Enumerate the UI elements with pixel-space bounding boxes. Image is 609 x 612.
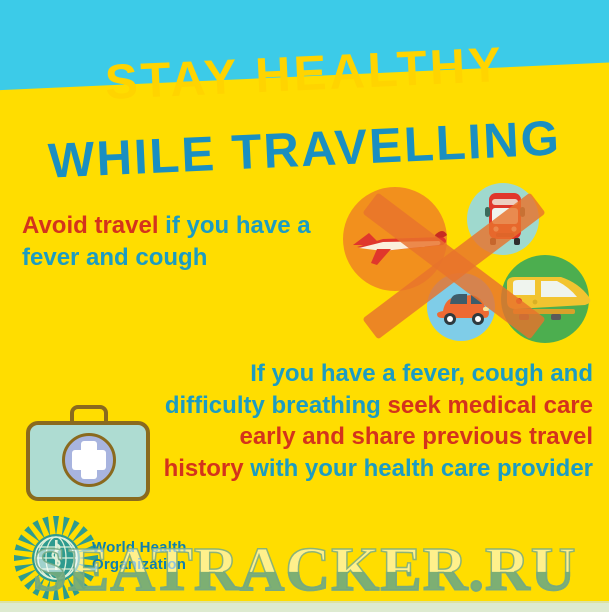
who-logo: [14, 516, 98, 600]
train-icon: [505, 275, 591, 327]
bus-icon: [481, 191, 529, 249]
poster-canvas: STAY HEALTHY WHILE TRAVELLING Avoid trav…: [0, 0, 609, 612]
who-organization-label: World Health Organization: [92, 540, 187, 574]
medical-cross-icon-bar: [72, 450, 106, 470]
airplane-icon: [347, 215, 447, 267]
advice-message-1: Avoid travel if you have a fever and cou…: [22, 210, 352, 273]
advice-1-red-text: Avoid travel: [22, 212, 159, 239]
footer-strip: [0, 603, 609, 612]
advice-2-blue-text-2: with your health care provider: [250, 455, 593, 482]
advice-message-2: If you have a fever, cough and difficult…: [163, 358, 593, 485]
car-icon: [433, 287, 493, 329]
medical-bag-icon: [26, 405, 154, 507]
who-label-line-1: World Health: [92, 540, 187, 557]
no-travel-illustration: [337, 183, 597, 343]
who-label-line-2: Organization: [92, 557, 187, 574]
